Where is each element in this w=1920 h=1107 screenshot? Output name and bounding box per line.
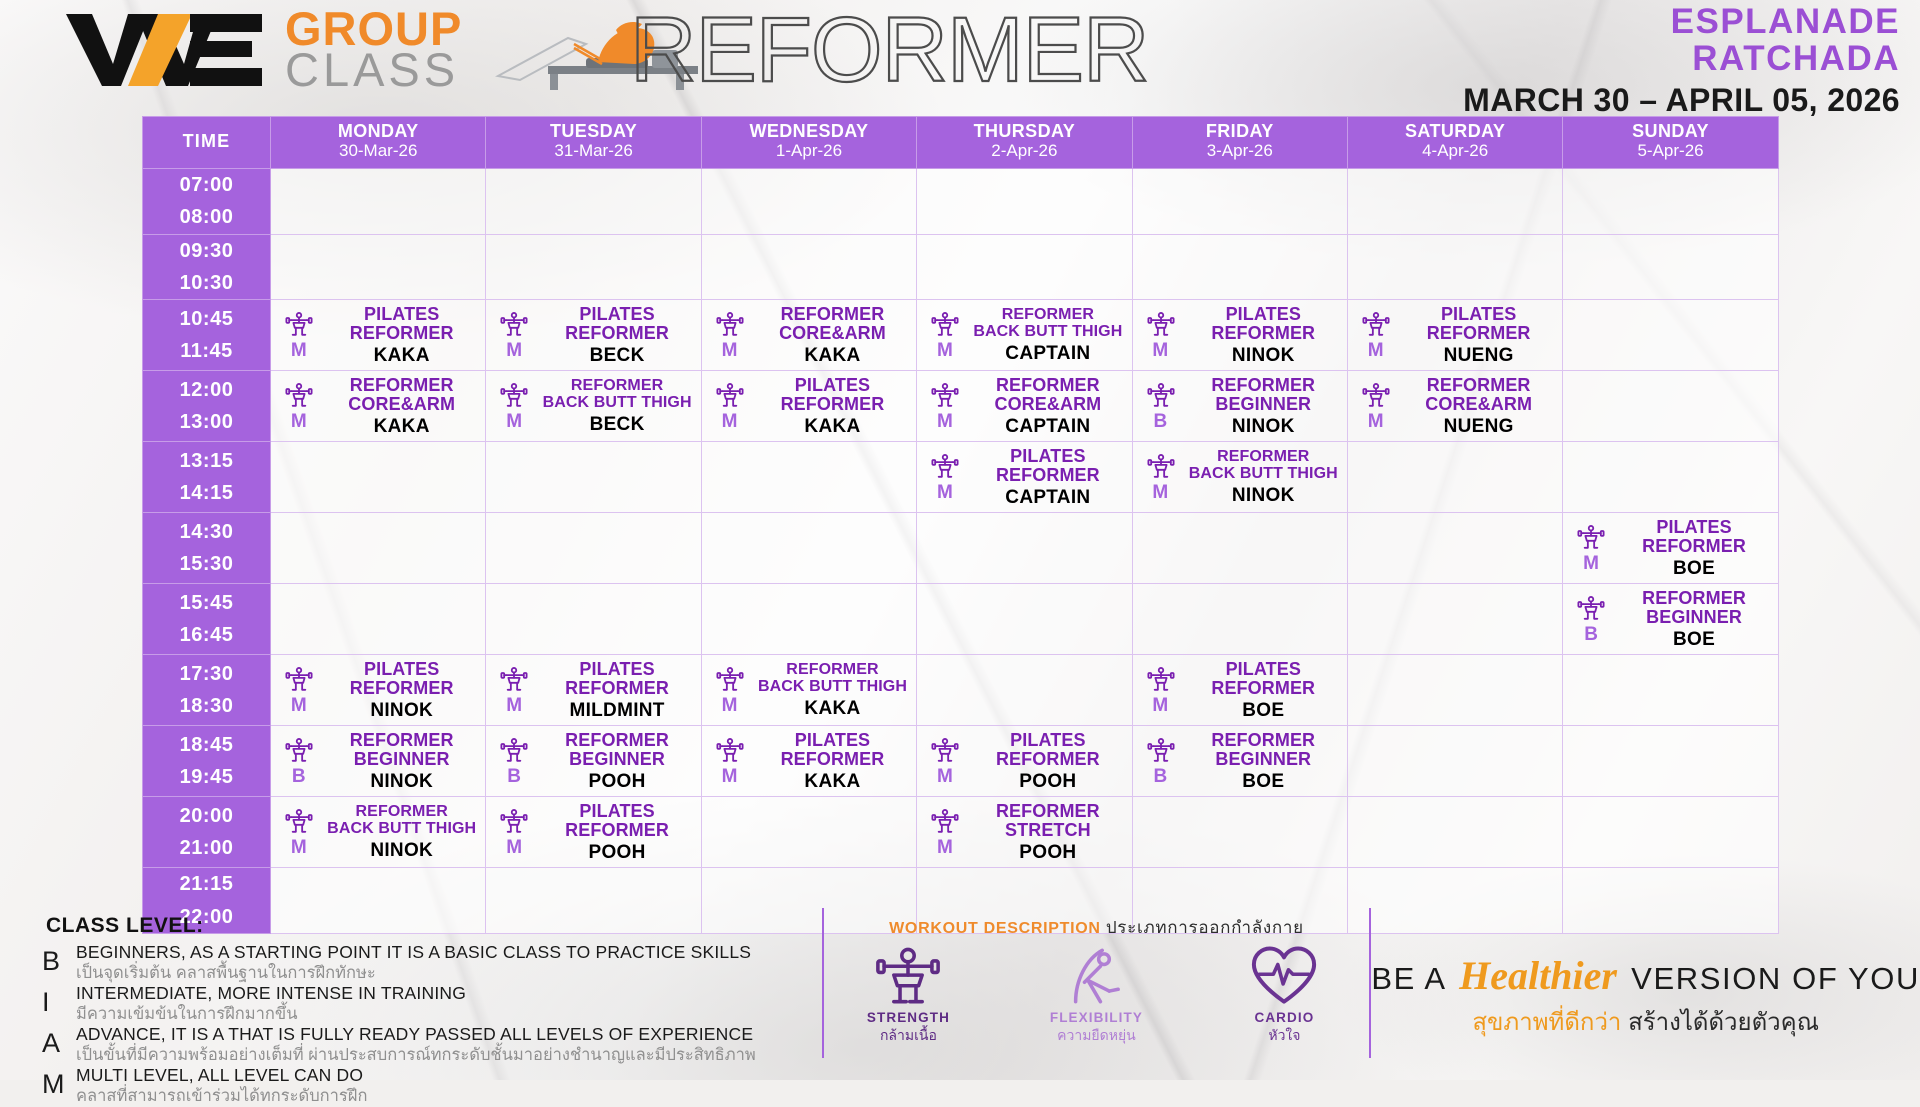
class-cell[interactable]: MREFORMERBACK BUTT THIGHCAPTAIN — [917, 300, 1132, 371]
class-cell[interactable]: MPILATESREFORMERMILDMINT — [486, 655, 701, 726]
class-cell-content: MPILATESREFORMERBOE — [1133, 655, 1347, 725]
table-body: 07:0008:0009:3010:3010:4511:45MPILATESRE… — [143, 168, 1779, 933]
class-cell-content: MPILATESREFORMERBECK — [486, 300, 700, 370]
class-cell-content: MPILATESREFORMERPOOH — [917, 726, 1131, 796]
class-icon-and-level: M — [709, 666, 751, 715]
time-end: 10:30 — [143, 267, 270, 299]
time-end: 15:30 — [143, 548, 270, 580]
tagline-thai-orange: สุขภาพที่ดีกว่า — [1472, 1009, 1621, 1036]
class-cell-content: MPILATESREFORMERMILDMINT — [486, 655, 700, 725]
class-cell[interactable]: BREFORMERBEGINNERNINOK — [271, 726, 486, 797]
class-name-line2: BACK BUTT THIGH — [969, 324, 1126, 341]
class-info: PILATESREFORMERNUENG — [1400, 305, 1557, 365]
class-cell[interactable]: MPILATESREFORMERNUENG — [1347, 300, 1562, 371]
instructor-name: POOH — [969, 843, 1126, 863]
class-name-line2: CORE&ARM — [323, 395, 480, 414]
legend-description-en: MULTI LEVEL, ALL LEVEL CAN DO — [76, 1066, 816, 1086]
class-cell-content: MPILATESREFORMERPOOH — [486, 797, 700, 867]
class-cell[interactable]: MPILATESREFORMERCAPTAIN — [917, 442, 1132, 513]
instructor-name: KAKA — [754, 417, 911, 437]
time-end: 11:45 — [143, 335, 270, 367]
empty-cell — [1347, 797, 1562, 868]
class-cell[interactable]: MPILATESREFORMERBOE — [1563, 513, 1778, 584]
empty-cell — [1347, 584, 1562, 655]
class-name: PILATESREFORMER — [1400, 305, 1557, 342]
class-name-line2: REFORMER — [323, 679, 480, 698]
class-cell[interactable]: MPILATESREFORMERPOOH — [486, 797, 701, 868]
class-level-badge: M — [722, 412, 738, 431]
class-cell[interactable]: MREFORMERSTRETCHPOOH — [917, 797, 1132, 868]
instructor-name: BOE — [1185, 772, 1342, 792]
class-name: REFORMERCORE&ARM — [323, 376, 480, 413]
class-level-badge: B — [1153, 412, 1167, 431]
class-cell[interactable]: BREFORMERBEGINNERBOE — [1132, 726, 1347, 797]
class-name-line2: REFORMER — [754, 395, 911, 414]
class-icon-and-level: M — [278, 808, 320, 857]
class-cell-content: MPILATESREFORMERCAPTAIN — [917, 442, 1131, 512]
time-slot-cell: 20:0021:00 — [143, 797, 271, 868]
class-name-line2: REFORMER — [1185, 324, 1342, 343]
empty-cell — [1563, 371, 1778, 442]
class-name-line1: REFORMER — [781, 305, 885, 324]
empty-cell — [486, 513, 701, 584]
class-name: REFORMERBACK BUTT THIGH — [323, 804, 480, 837]
strength-figure-icon — [1577, 595, 1605, 623]
class-cell[interactable]: BREFORMERBEGINNERNINOK — [1132, 371, 1347, 442]
schedule-row: 13:1514:15MPILATESREFORMERCAPTAINMREFORM… — [143, 442, 1779, 513]
flexibility-label-en: FLEXIBILITY — [1050, 1010, 1143, 1025]
empty-cell — [917, 234, 1132, 300]
empty-cell — [701, 442, 916, 513]
time-end: 18:30 — [143, 690, 270, 722]
class-cell-content: MREFORMERBACK BUTT THIGHCAPTAIN — [917, 300, 1131, 370]
legend-description-th: มีความเข้มข้นในการฝึกมากขึ้น — [76, 1004, 816, 1024]
empty-cell — [1347, 234, 1562, 300]
time-slot-cell: 07:0008:00 — [143, 168, 271, 234]
strength-figure-icon — [931, 808, 959, 836]
class-icon-and-level: M — [709, 382, 751, 431]
empty-cell — [271, 584, 486, 655]
class-cell[interactable]: MPILATESREFORMERNINOK — [271, 655, 486, 726]
class-cell[interactable]: BREFORMERBEGINNERPOOH — [486, 726, 701, 797]
class-name-line2: BACK BUTT THIGH — [323, 821, 480, 838]
tagline-thai-dark: สร้างได้ด้วยตัวคุณ — [1628, 1009, 1819, 1036]
strength-figure-icon — [500, 808, 528, 836]
class-name-line2: REFORMER — [969, 466, 1126, 485]
strength-figure-icon — [1362, 382, 1390, 410]
class-name-line1: REFORMER — [1211, 376, 1315, 395]
class-level-badge: B — [1153, 767, 1167, 786]
class-icon-and-level: M — [1355, 311, 1397, 360]
tagline-script-word: Healthier — [1455, 953, 1621, 998]
class-cell[interactable]: MPILATESREFORMERPOOH — [917, 726, 1132, 797]
legend-description-th: เป็นขั้นที่มีความพร้อมอย่างเต็มที่ ผ่านป… — [76, 1045, 816, 1065]
time-end: 14:15 — [143, 477, 270, 509]
time-start: 21:15 — [143, 868, 270, 900]
empty-cell — [1347, 655, 1562, 726]
strength-figure-icon — [285, 737, 313, 765]
day-name: MONDAY — [273, 122, 483, 141]
empty-cell — [271, 168, 486, 234]
class-cell-content: MPILATESREFORMERNINOK — [271, 655, 485, 725]
class-name: REFORMERCORE&ARM — [754, 305, 911, 342]
class-cell-content: MREFORMERCORE&ARMKAKA — [702, 300, 916, 370]
empty-cell — [1132, 234, 1347, 300]
class-name-line2: BEGINNER — [1615, 608, 1772, 627]
class-cell[interactable]: MPILATESREFORMERKAKA — [701, 371, 916, 442]
class-icon-and-level: M — [493, 311, 535, 360]
class-level-badge: M — [506, 838, 522, 857]
class-name-line1: PILATES — [1010, 447, 1085, 466]
strength-figure-icon — [931, 453, 959, 481]
strength-icon — [843, 945, 973, 1007]
class-info: REFORMERBACK BUTT THIGHNINOK — [323, 804, 480, 860]
time-start: 18:45 — [143, 729, 270, 761]
strength-figure-icon — [716, 666, 744, 694]
day-date: 4-Apr-26 — [1350, 142, 1560, 160]
empty-cell — [701, 797, 916, 868]
class-level-badge: M — [1152, 696, 1168, 715]
class-icon-and-level: M — [924, 453, 966, 502]
class-name: REFORMERBEGINNER — [323, 731, 480, 768]
class-info: PILATESREFORMERBOE — [1615, 518, 1772, 578]
schedule-row: 10:4511:45MPILATESREFORMERKAKAMPILATESRE… — [143, 300, 1779, 371]
class-name-line1: REFORMER — [1642, 589, 1746, 608]
class-icon-and-level: M — [1140, 453, 1182, 502]
time-slot-cell: 09:3010:30 — [143, 234, 271, 300]
empty-cell — [701, 234, 916, 300]
class-info: REFORMERBEGINNERNINOK — [1185, 376, 1342, 436]
day-header-friday: FRIDAY 3-Apr-26 — [1132, 117, 1347, 169]
class-level-badge: M — [1583, 554, 1599, 573]
class-info: PILATESREFORMERBOE — [1185, 660, 1342, 720]
class-icon-and-level: M — [278, 666, 320, 715]
class-info: PILATESREFORMERKAKA — [754, 731, 911, 791]
class-cell[interactable]: MPILATESREFORMERBECK — [486, 300, 701, 371]
legend-row: MMULTI LEVEL, ALL LEVEL CAN DOคลาสที่สาม… — [42, 1066, 816, 1106]
legend-description-en: ADVANCE, IT IS A THAT IS FULLY READY PAS… — [76, 1025, 816, 1045]
branch-name: ESPLANADE RATCHADA — [1463, 4, 1900, 76]
class-name-line1: PILATES — [795, 376, 870, 395]
class-info: REFORMERBACK BUTT THIGHCAPTAIN — [969, 307, 1126, 363]
time-slot-cell: 15:4516:45 — [143, 584, 271, 655]
class-icon-and-level: M — [278, 311, 320, 360]
workout-title-th: ประเภทการออกกำลังกาย — [1106, 918, 1304, 937]
legend-description-en: BEGINNERS, AS A STARTING POINT IT IS A B… — [76, 943, 816, 963]
class-level-badge: B — [292, 767, 306, 786]
instructor-name: BOE — [1615, 559, 1772, 579]
time-end: 08:00 — [143, 201, 270, 233]
instructor-name: BOE — [1185, 701, 1342, 721]
empty-cell — [1563, 442, 1778, 513]
class-info: PILATESREFORMERMILDMINT — [538, 660, 695, 720]
day-date: 3-Apr-26 — [1135, 142, 1345, 160]
class-info: REFORMERBEGINNERBOE — [1615, 589, 1772, 649]
class-cell-content: BREFORMERBEGINNERNINOK — [1133, 371, 1347, 441]
class-cell-content: BREFORMERBEGINNERBOE — [1133, 726, 1347, 796]
instructor-name: CAPTAIN — [969, 488, 1126, 508]
empty-cell — [271, 234, 486, 300]
tagline-english: BE A Healthier VERSION OF YOU — [1371, 952, 1920, 999]
class-name: REFORMERSTRETCH — [969, 802, 1126, 839]
schedule-poster: GROUP CLASS REFORMER ESPLANADE RATCHADA — [0, 0, 1920, 1080]
empty-cell — [917, 168, 1132, 234]
class-info: PILATESREFORMERNINOK — [323, 660, 480, 720]
schedule-row: 12:0013:00MREFORMERCORE&ARMKAKAMREFORMER… — [143, 371, 1779, 442]
day-name: WEDNESDAY — [704, 122, 914, 141]
instructor-name: CAPTAIN — [969, 344, 1126, 364]
class-name-line2: REFORMER — [538, 821, 695, 840]
class-cell[interactable]: MPILATESREFORMERBOE — [1132, 655, 1347, 726]
day-header-wednesday: WEDNESDAY 1-Apr-26 — [701, 117, 916, 169]
empty-cell — [701, 168, 916, 234]
strength-figure-icon — [1147, 453, 1175, 481]
table-head: TIME MONDAY 30-Mar-26 TUESDAY 31-Mar-26 … — [143, 117, 1779, 169]
class-level-badge: M — [291, 341, 307, 360]
class-info: PILATESREFORMERKAKA — [323, 305, 480, 365]
empty-cell — [701, 584, 916, 655]
class-cell-content: MPILATESREFORMERNUENG — [1348, 300, 1562, 370]
strength-figure-icon — [285, 666, 313, 694]
class-cell[interactable]: MPILATESREFORMERKAKA — [701, 726, 916, 797]
class-icon-and-level: M — [1570, 524, 1612, 573]
class-level-badge: M — [506, 696, 522, 715]
strength-figure-icon — [285, 382, 313, 410]
class-name-line1: REFORMER — [565, 731, 669, 750]
class-name: PILATESREFORMER — [969, 447, 1126, 484]
empty-cell — [1563, 797, 1778, 868]
flexibility-label: FLEXIBILITY ความยืดหยุ่น — [1031, 1010, 1161, 1047]
class-cell-content: MPILATESREFORMERKAKA — [271, 300, 485, 370]
empty-cell — [486, 234, 701, 300]
class-name: REFORMERBEGINNER — [1185, 376, 1342, 413]
class-name-line2: BEGINNER — [1185, 750, 1342, 769]
time-start: 13:15 — [143, 445, 270, 477]
class-name-line2: REFORMER — [538, 679, 695, 698]
class-cell[interactable]: MREFORMERBACK BUTT THIGHNINOK — [271, 797, 486, 868]
instructor-name: NINOK — [1185, 486, 1342, 506]
class-level-badge: M — [722, 767, 738, 786]
class-cell[interactable]: MREFORMERBACK BUTT THIGHNINOK — [1132, 442, 1347, 513]
instructor-name: POOH — [538, 843, 695, 863]
empty-cell — [1563, 655, 1778, 726]
class-name-line1: REFORMER — [1002, 307, 1094, 323]
time-start: 10:45 — [143, 303, 270, 335]
class-cell[interactable]: MPILATESREFORMERKAKA — [271, 300, 486, 371]
instructor-name: KAKA — [754, 772, 911, 792]
class-name-line1: REFORMER — [571, 378, 663, 394]
schedule-row: 15:4516:45BREFORMERBEGINNERBOE — [143, 584, 1779, 655]
class-name: REFORMERBACK BUTT THIGH — [538, 378, 695, 411]
instructor-name: KAKA — [323, 346, 480, 366]
legend-text: INTERMEDIATE, MORE INTENSE IN TRAININGมี… — [76, 984, 816, 1024]
class-info: REFORMERSTRETCHPOOH — [969, 802, 1126, 862]
strength-figure-icon — [931, 382, 959, 410]
day-name: THURSDAY — [919, 122, 1129, 141]
strength-figure-icon — [500, 737, 528, 765]
time-start: 17:30 — [143, 658, 270, 690]
class-level-badge: M — [722, 696, 738, 715]
class-info: REFORMERCORE&ARMKAKA — [754, 305, 911, 365]
class-info: REFORMERCORE&ARMCAPTAIN — [969, 376, 1126, 436]
class-name-line1: PILATES — [1656, 518, 1731, 537]
time-start: 14:30 — [143, 516, 270, 548]
branch-and-dates: ESPLANADE RATCHADA MARCH 30 – APRIL 05, … — [1463, 4, 1900, 116]
page-title: REFORMER — [630, 0, 1148, 103]
strength-figure-icon — [716, 737, 744, 765]
class-cell-content: MREFORMERBACK BUTT THIGHNINOK — [1133, 442, 1347, 512]
class-name-line1: PILATES — [1441, 305, 1516, 324]
workout-title-en: WORKOUT DESCRIPTION — [889, 920, 1101, 937]
empty-cell — [1132, 797, 1347, 868]
empty-cell — [1347, 442, 1562, 513]
class-cell[interactable]: MREFORMERCORE&ARMCAPTAIN — [917, 371, 1132, 442]
empty-cell — [1563, 168, 1778, 234]
empty-cell — [486, 442, 701, 513]
class-info: REFORMERBEGINNERNINOK — [323, 731, 480, 791]
class-cell-content: MREFORMERCORE&ARMCAPTAIN — [917, 371, 1131, 441]
empty-cell — [486, 168, 701, 234]
class-info: PILATESREFORMERCAPTAIN — [969, 447, 1126, 507]
class-icon-and-level: M — [1140, 666, 1182, 715]
class-level-badge: M — [1368, 341, 1384, 360]
day-name: FRIDAY — [1135, 122, 1345, 141]
class-icon-and-level: B — [493, 737, 535, 786]
class-name-line2: REFORMER — [1400, 324, 1557, 343]
legend-text: BEGINNERS, AS A STARTING POINT IT IS A B… — [76, 943, 816, 983]
class-name: REFORMERBEGINNER — [1185, 731, 1342, 768]
day-date: 2-Apr-26 — [919, 142, 1129, 160]
time-end: 13:00 — [143, 406, 270, 438]
class-name-line1: REFORMER — [1217, 449, 1309, 465]
class-name-line2: REFORMER — [1615, 537, 1772, 556]
empty-cell — [1563, 234, 1778, 300]
class-cell-content: BREFORMERBEGINNERNINOK — [271, 726, 485, 796]
class-name: REFORMERBACK BUTT THIGH — [969, 307, 1126, 340]
day-date: 1-Apr-26 — [704, 142, 914, 160]
class-name: PILATESREFORMER — [538, 660, 695, 697]
class-cell[interactable]: MPILATESREFORMERNINOK — [1132, 300, 1347, 371]
class-icon-and-level: M — [493, 808, 535, 857]
class-icon-and-level: B — [1570, 595, 1612, 644]
instructor-name: NINOK — [323, 701, 480, 721]
class-info: PILATESREFORMERNINOK — [1185, 305, 1342, 365]
cardio-label-th: หัวใจ — [1219, 1025, 1349, 1047]
empty-cell — [486, 584, 701, 655]
strength-figure-icon — [500, 382, 528, 410]
cardio-label: CARDIO หัวใจ — [1219, 1010, 1349, 1047]
class-name-line2: REFORMER — [754, 750, 911, 769]
empty-cell — [1132, 513, 1347, 584]
class-icon-and-level: M — [1355, 382, 1397, 431]
heart-pulse-icon — [1219, 945, 1349, 1007]
class-info: PILATESREFORMERPOOH — [538, 802, 695, 862]
instructor-name: NUENG — [1400, 417, 1557, 437]
tagline-post: VERSION OF YOU — [1631, 961, 1920, 996]
day-header-monday: MONDAY 30-Mar-26 — [271, 117, 486, 169]
class-name-line1: PILATES — [1226, 660, 1301, 679]
class-level-badge: M — [506, 412, 522, 431]
class-cell-content: MPILATESREFORMERBOE — [1563, 513, 1777, 583]
class-name: PILATESREFORMER — [1185, 660, 1342, 697]
class-name-line2: REFORMER — [969, 750, 1126, 769]
class-name: PILATESREFORMER — [1185, 305, 1342, 342]
class-name-line1: REFORMER — [786, 662, 878, 678]
class-name: PILATESREFORMER — [323, 660, 480, 697]
strength-figure-icon — [1147, 382, 1175, 410]
empty-cell — [271, 442, 486, 513]
instructor-name: NINOK — [323, 772, 480, 792]
empty-cell — [701, 513, 916, 584]
strength-label: STRENGTH กล้ามเนื้อ — [843, 1010, 973, 1047]
class-level-badge: M — [937, 412, 953, 431]
class-name: PILATESREFORMER — [754, 376, 911, 413]
class-name-line2: CORE&ARM — [969, 395, 1126, 414]
empty-cell — [917, 513, 1132, 584]
time-start: 07:00 — [143, 169, 270, 201]
legend-row: AADVANCE, IT IS A THAT IS FULLY READY PA… — [42, 1025, 816, 1065]
strength-figure-icon — [716, 311, 744, 339]
class-level-badge: M — [1152, 483, 1168, 502]
class-cell[interactable]: BREFORMERBEGINNERBOE — [1563, 584, 1778, 655]
class-cell-content: MPILATESREFORMERKAKA — [702, 726, 916, 796]
class-icon-and-level: M — [709, 311, 751, 360]
class-level-badge: B — [1584, 625, 1598, 644]
day-name: TUESDAY — [488, 122, 698, 141]
branch-line-1: ESPLANADE — [1671, 2, 1900, 41]
schedule-row: 17:3018:30MPILATESREFORMERNINOKMPILATESR… — [143, 655, 1779, 726]
legend-rows: BBEGINNERS, AS A STARTING POINT IT IS A … — [42, 943, 816, 1106]
instructor-name: POOH — [969, 772, 1126, 792]
class-cell[interactable]: MREFORMERBACK BUTT THIGHBECK — [486, 371, 701, 442]
time-start: 20:00 — [143, 800, 270, 832]
instructor-name: KAKA — [323, 417, 480, 437]
class-cell[interactable]: MREFORMERCORE&ARMKAKA — [271, 371, 486, 442]
class-name-line2: BACK BUTT THIGH — [754, 679, 911, 696]
class-level-badge: M — [291, 838, 307, 857]
class-cell[interactable]: MREFORMERCORE&ARMKAKA — [701, 300, 916, 371]
class-icon-and-level: M — [924, 808, 966, 857]
class-name-line1: PILATES — [364, 660, 439, 679]
class-info: REFORMERBACK BUTT THIGHKAKA — [754, 662, 911, 718]
class-level-badge: M — [937, 341, 953, 360]
instructor-name: NINOK — [1185, 417, 1342, 437]
class-name-line1: PILATES — [795, 731, 870, 750]
day-header-thursday: THURSDAY 2-Apr-26 — [917, 117, 1132, 169]
class-name-line1: PILATES — [579, 802, 654, 821]
class-cell-content: MREFORMERCORE&ARMKAKA — [271, 371, 485, 441]
class-icon-and-level: M — [493, 382, 535, 431]
empty-cell — [1132, 584, 1347, 655]
class-level-badge: B — [507, 767, 521, 786]
class-icon-and-level: M — [278, 382, 320, 431]
class-name: REFORMERBACK BUTT THIGH — [754, 662, 911, 695]
class-name-line2: REFORMER — [538, 324, 695, 343]
time-slot-cell: 18:4519:45 — [143, 726, 271, 797]
workout-description-panel: WORKOUT DESCRIPTION ประเภทการออกกำลังกาย — [822, 908, 1372, 1058]
instructor-name: KAKA — [754, 346, 911, 366]
class-icon-and-level: B — [1140, 382, 1182, 431]
class-cell[interactable]: MREFORMERCORE&ARMNUENG — [1347, 371, 1562, 442]
class-cell-content: MPILATESREFORMERKAKA — [702, 371, 916, 441]
empty-cell — [1132, 168, 1347, 234]
class-cell[interactable]: MREFORMERBACK BUTT THIGHKAKA — [701, 655, 916, 726]
class-icon-and-level: M — [709, 737, 751, 786]
empty-cell — [917, 655, 1132, 726]
empty-cell — [1347, 513, 1562, 584]
class-icon-and-level: B — [1140, 737, 1182, 786]
empty-cell — [271, 513, 486, 584]
